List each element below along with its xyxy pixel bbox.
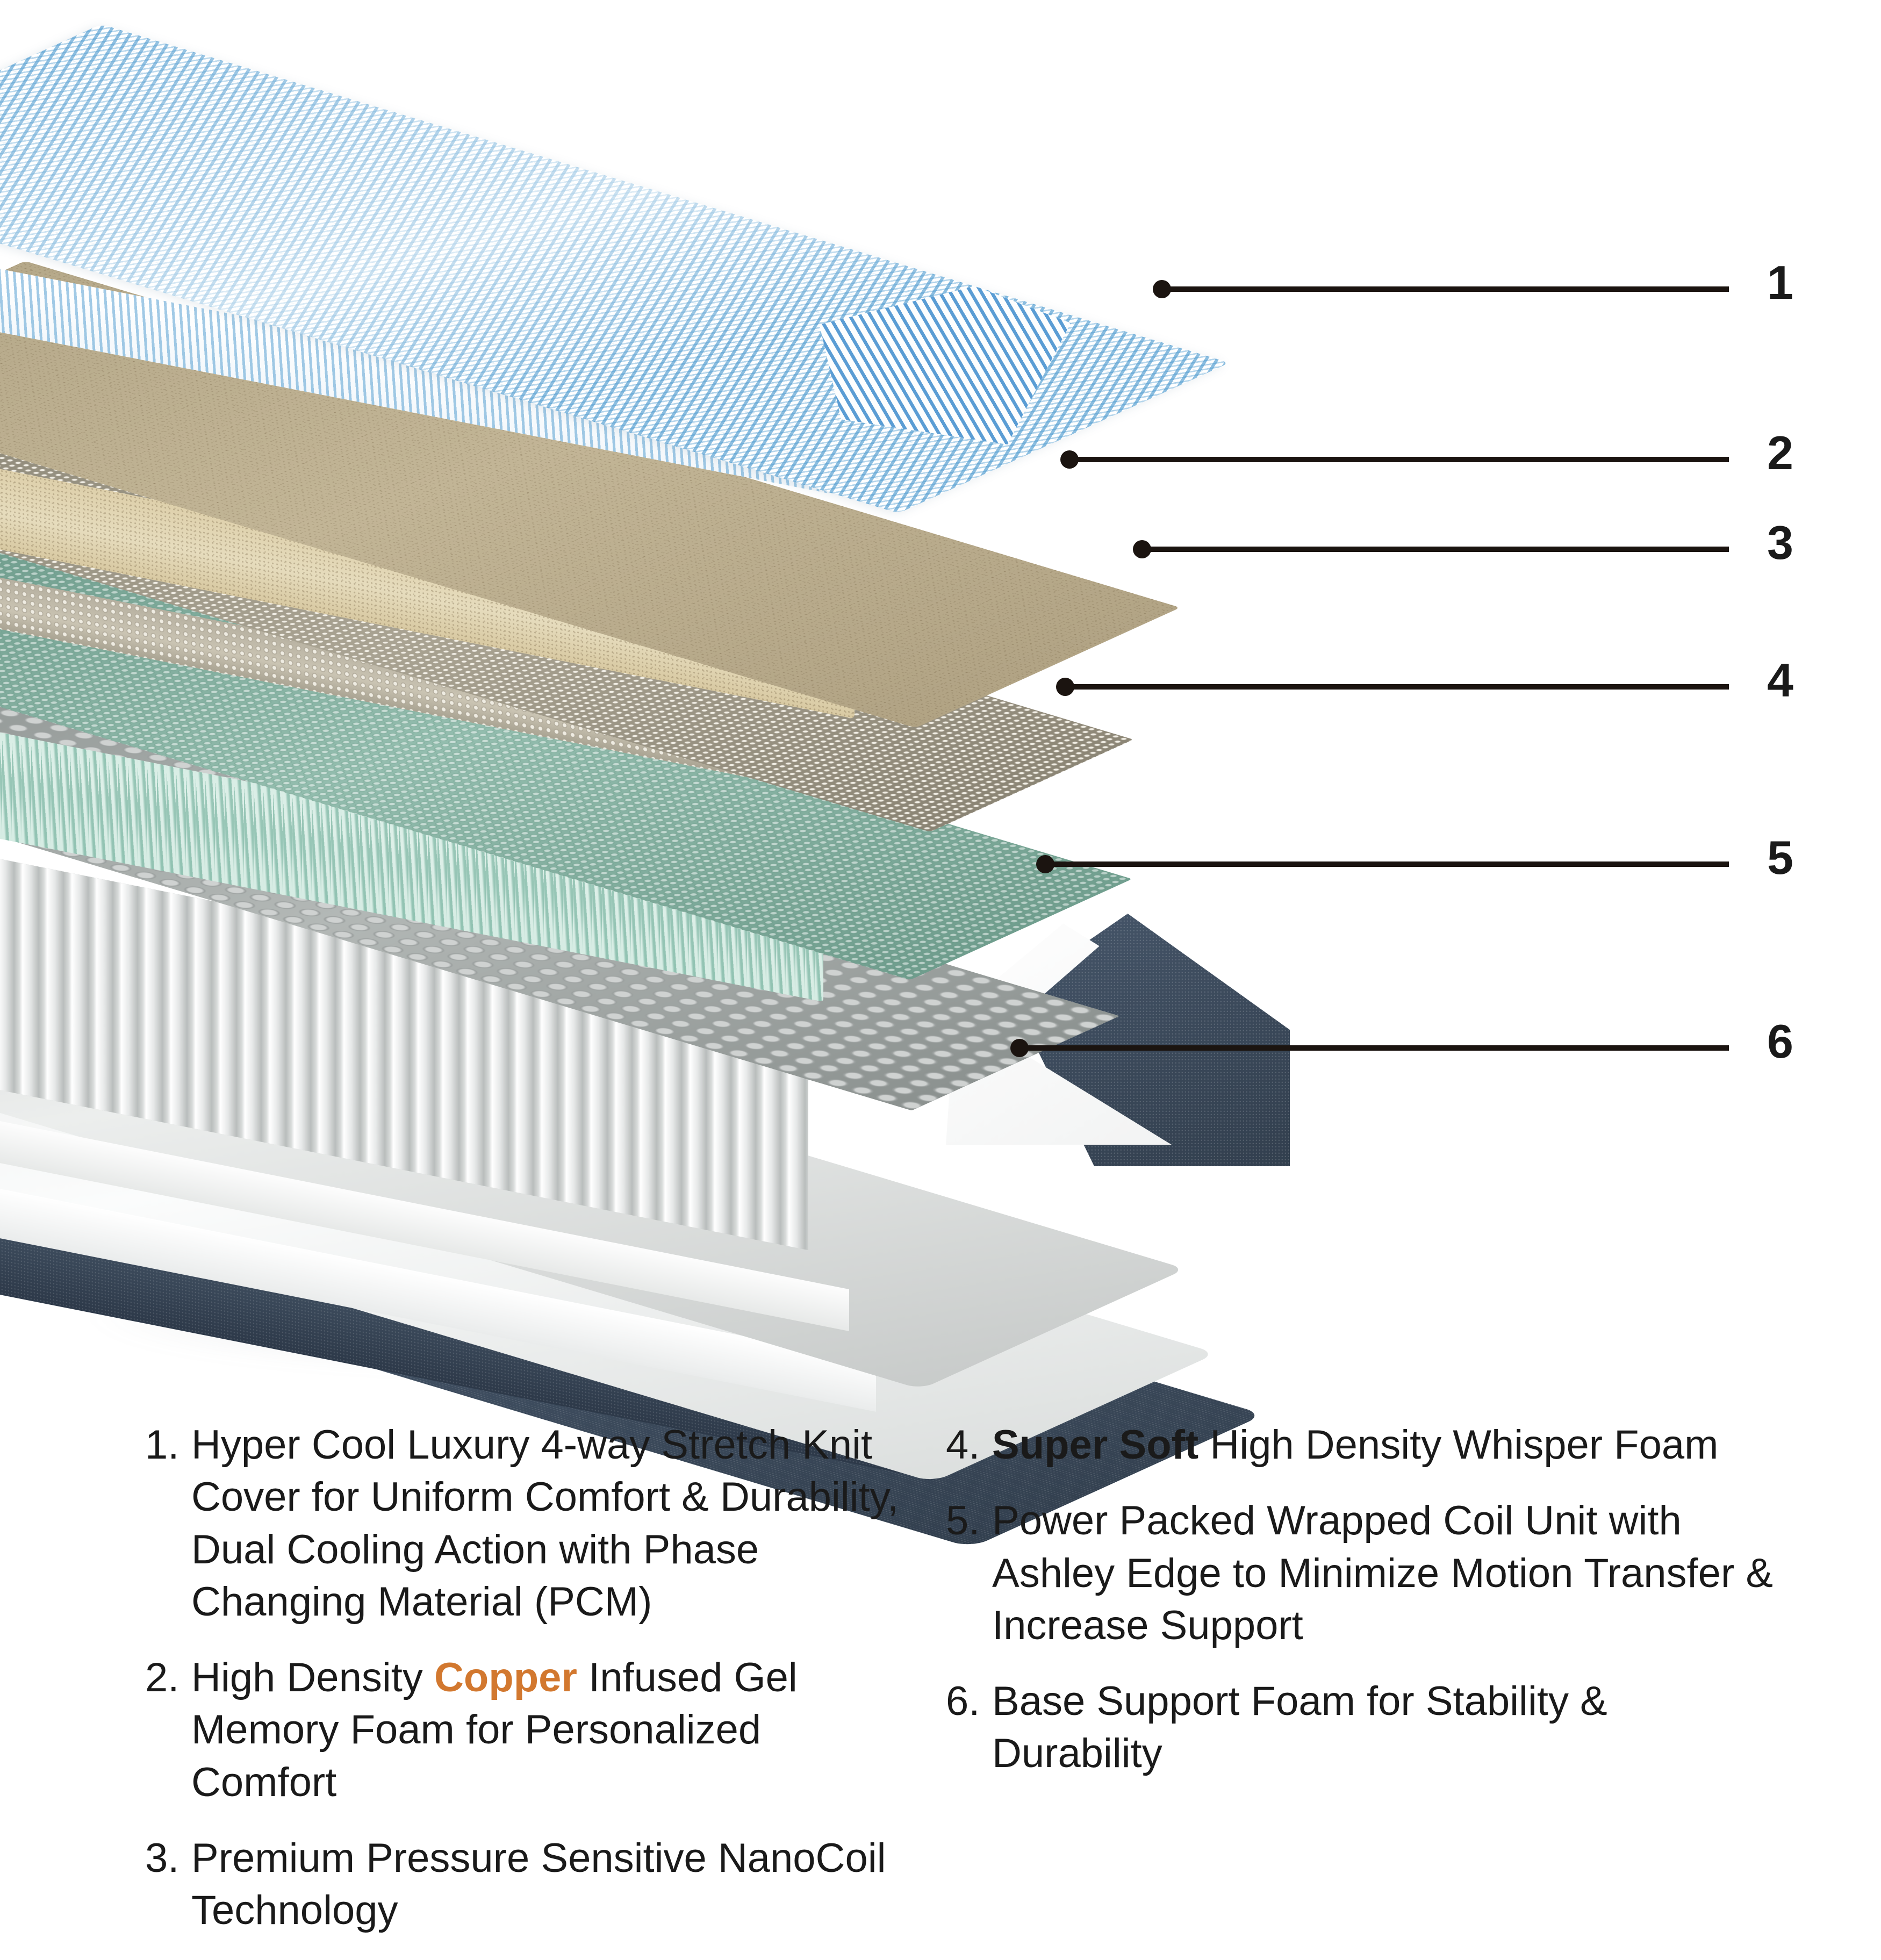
caption-item-5: 5.Power Packed Wrapped Coil Unit with As…: [946, 1495, 1784, 1652]
caption-column-left: 1.Hyper Cool Luxury 4-way Stretch Knit C…: [145, 1419, 908, 1960]
caption-text: Super Soft High Density Whisper Foam: [992, 1419, 1784, 1471]
leader-line-4: [1065, 684, 1729, 690]
copper-highlight: Copper: [434, 1655, 577, 1700]
callout-number-1: 1: [1767, 259, 1793, 306]
caption-text: High Density Copper Infused Gel Memory F…: [191, 1652, 908, 1808]
callout-number-5: 5: [1767, 834, 1793, 881]
caption-column-right: 4.Super Soft High Density Whisper Foam5.…: [946, 1419, 1784, 1804]
caption-item-4: 4.Super Soft High Density Whisper Foam: [946, 1419, 1784, 1471]
caption-index: 3.: [145, 1832, 191, 1937]
caption-text: Hyper Cool Luxury 4-way Stretch Knit Cov…: [191, 1419, 908, 1628]
caption-item-2: 2.High Density Copper Infused Gel Memory…: [145, 1652, 908, 1808]
caption-item-3: 3.Premium Pressure Sensitive NanoCoil Te…: [145, 1832, 908, 1937]
leader-line-6: [1020, 1045, 1729, 1051]
leader-line-5: [1045, 861, 1729, 867]
caption-index: 2.: [145, 1652, 191, 1808]
caption-index: 4.: [946, 1419, 992, 1471]
caption-text: Base Support Foam for Stability & Durabi…: [992, 1675, 1784, 1780]
caption-index: 1.: [145, 1419, 191, 1628]
caption-index: 5.: [946, 1495, 992, 1652]
caption-legend: 1.Hyper Cool Luxury 4-way Stretch Knit C…: [0, 1419, 1881, 1881]
callout-number-2: 2: [1767, 429, 1793, 477]
callout-number-6: 6: [1767, 1018, 1793, 1065]
caption-text: Power Packed Wrapped Coil Unit with Ashl…: [992, 1495, 1784, 1652]
callout-number-4: 4: [1767, 657, 1793, 704]
caption-item-6: 6.Base Support Foam for Stability & Dura…: [946, 1675, 1784, 1780]
mattress-cutaway-diagram: 123456: [0, 0, 1881, 1376]
layer-1-cooling-knit-cover: [0, 81, 1150, 489]
callout-number-3: 3: [1767, 519, 1793, 566]
caption-item-1: 1.Hyper Cool Luxury 4-way Stretch Knit C…: [145, 1419, 908, 1628]
leader-line-2: [1069, 457, 1729, 462]
caption-index: 6.: [946, 1675, 992, 1780]
caption-text: Premium Pressure Sensitive NanoCoil Tech…: [191, 1832, 908, 1937]
leader-line-3: [1142, 547, 1729, 552]
leader-line-1: [1162, 286, 1729, 292]
